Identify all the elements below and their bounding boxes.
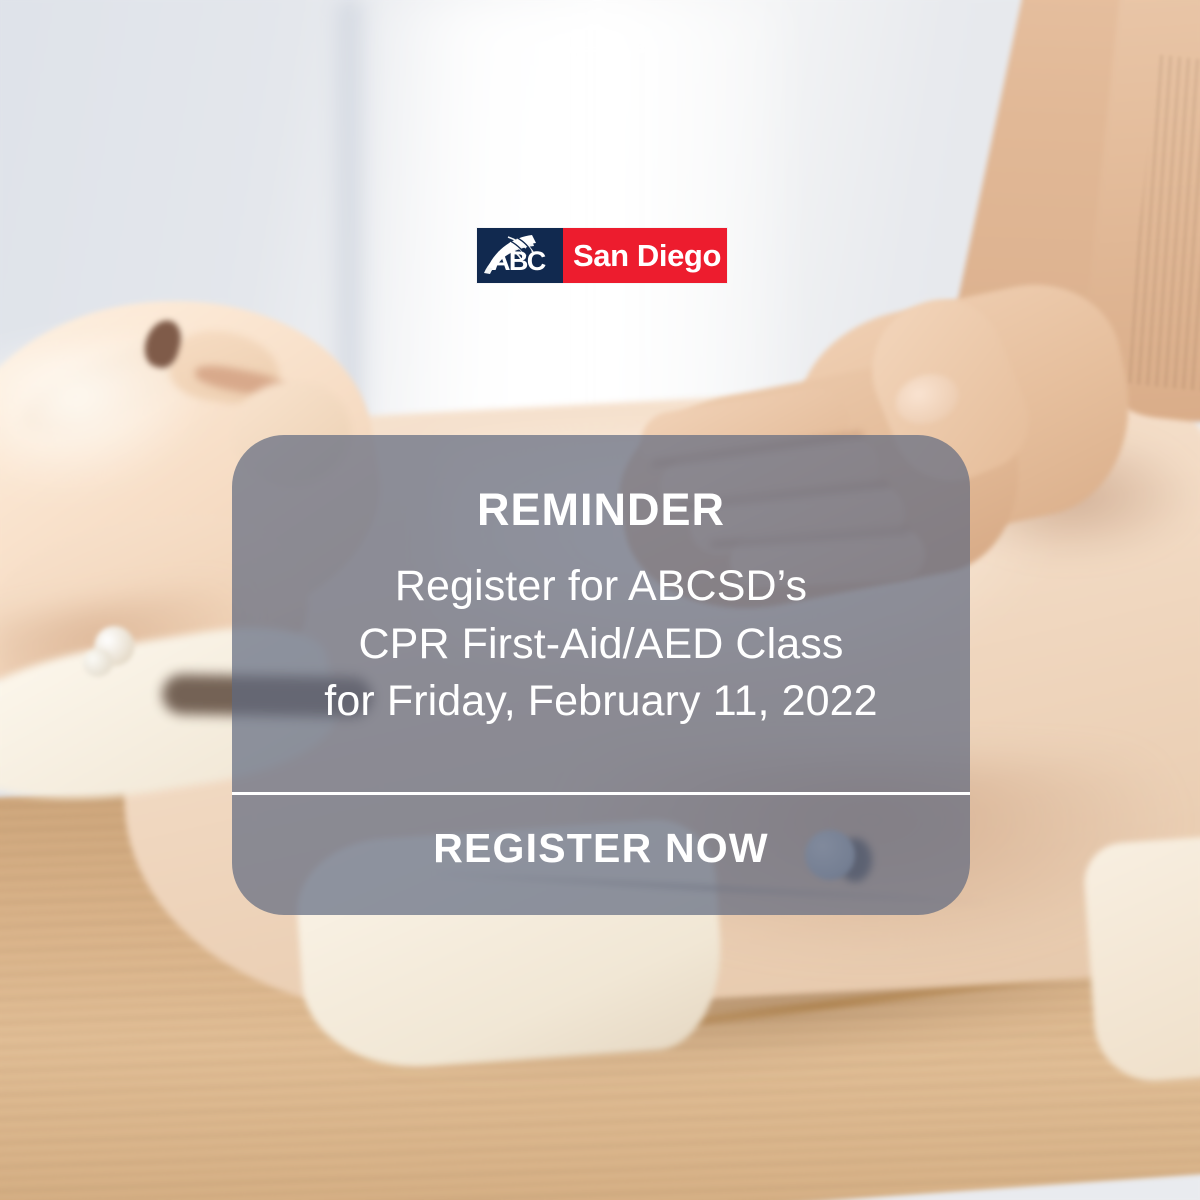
panel-body-line-3: for Friday, February 11, 2022 [324, 673, 877, 731]
abc-san-diego-logo[interactable]: ABC San Diego [477, 228, 727, 283]
panel-body: Register for ABCSD’s CPR First-Aid/AED C… [324, 558, 877, 731]
logo-abc-text: ABC [491, 248, 545, 275]
panel-title: REMINDER [477, 487, 725, 532]
register-now-button[interactable]: REGISTER NOW [232, 828, 970, 869]
abc-globe-icon: ABC [480, 233, 560, 279]
logo-mark-block: ABC [477, 228, 563, 283]
panel-divider [232, 792, 970, 795]
logo-wordmark-block: San Diego [563, 228, 727, 283]
poster-canvas: ABC San Diego REMINDER Register for ABCS… [0, 0, 1200, 1200]
logo-wordmark-text: San Diego [573, 240, 721, 271]
panel-body-line-2: CPR First-Aid/AED Class [324, 616, 877, 674]
manikin-lower-body [1082, 835, 1200, 1085]
panel-body-line-1: Register for ABCSD’s [324, 558, 877, 616]
reminder-panel: REMINDER Register for ABCSD’s CPR First-… [232, 435, 970, 915]
